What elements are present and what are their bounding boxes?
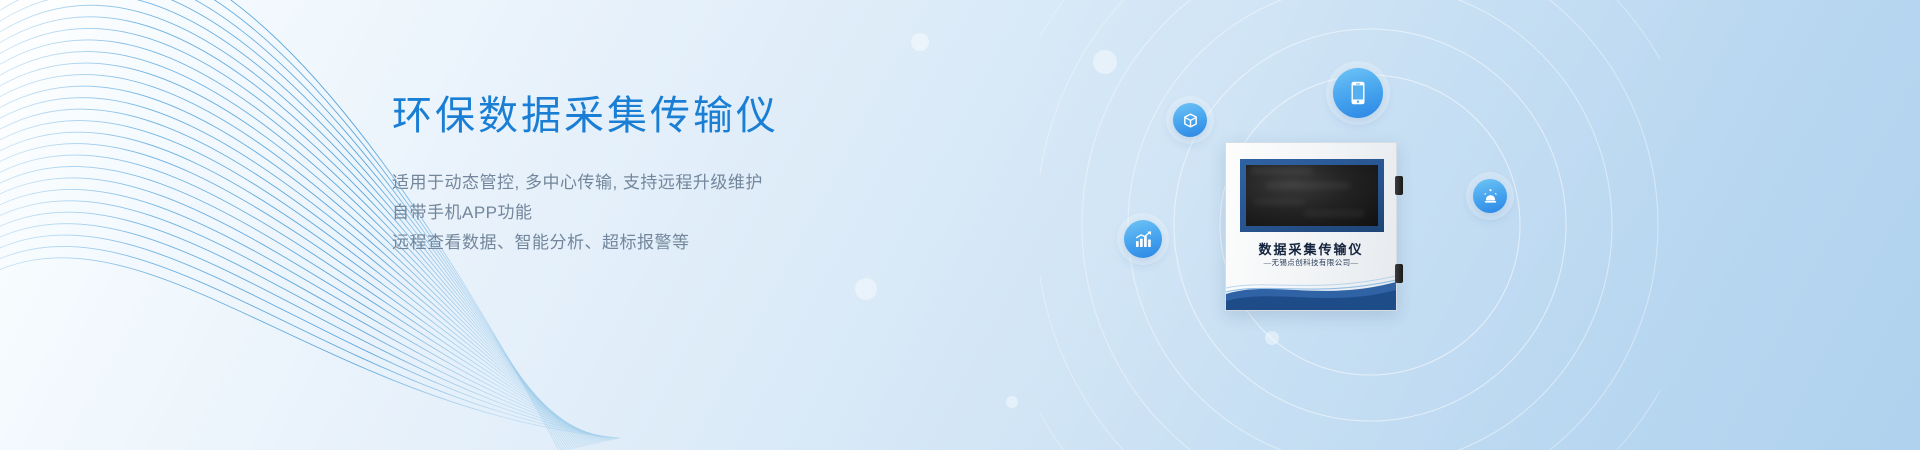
mobile-phone-icon bbox=[1345, 80, 1371, 106]
device-display bbox=[1246, 165, 1378, 226]
device-wave-graphic bbox=[1226, 268, 1396, 310]
subtitle-line-1: 适用于动态管控, 多中心传输, 支持远程升级维护 bbox=[392, 168, 1032, 198]
device-enclosure: 数据采集传输仪 —无锡点创科技有限公司— bbox=[1225, 142, 1397, 311]
bokeh-dot-4 bbox=[1265, 331, 1279, 345]
badge-alarm[interactable] bbox=[1473, 179, 1507, 213]
bokeh-dot-3 bbox=[855, 278, 877, 300]
product-device-image: 数据采集传输仪 —无锡点创科技有限公司— bbox=[1225, 142, 1397, 311]
badge-package[interactable] bbox=[1173, 103, 1207, 137]
device-screen-bezel bbox=[1240, 159, 1384, 232]
page-title: 环保数据采集传输仪 bbox=[392, 92, 1032, 140]
package-icon bbox=[1182, 112, 1199, 129]
subtitle-line-3: 远程查看数据、智能分析、超标报警等 bbox=[392, 228, 1032, 258]
bar-chart-icon bbox=[1134, 230, 1153, 249]
hero-subtitle-list: 适用于动态管控, 多中心传输, 支持远程升级维护 自带手机APP功能 远程查看数… bbox=[392, 168, 1032, 258]
bokeh-dot-1 bbox=[911, 33, 929, 51]
device-company-label: —无锡点创科技有限公司— bbox=[1226, 257, 1396, 268]
bokeh-dot-2 bbox=[1093, 50, 1117, 74]
device-brand-label: 数据采集传输仪 bbox=[1226, 239, 1396, 258]
device-latch-bottom bbox=[1395, 264, 1403, 283]
subtitle-line-2: 自带手机APP功能 bbox=[392, 198, 1032, 228]
device-latch-top bbox=[1395, 176, 1403, 195]
hero-copy-block: 环保数据采集传输仪 适用于动态管控, 多中心传输, 支持远程升级维护 自带手机A… bbox=[392, 92, 1032, 258]
badge-mobile-app[interactable] bbox=[1333, 68, 1383, 118]
badge-analytics[interactable] bbox=[1124, 220, 1162, 258]
bokeh-dot-5 bbox=[1006, 396, 1018, 408]
alarm-siren-icon bbox=[1482, 188, 1499, 205]
hero-banner: 环保数据采集传输仪 适用于动态管控, 多中心传输, 支持远程升级维护 自带手机A… bbox=[0, 0, 1920, 450]
